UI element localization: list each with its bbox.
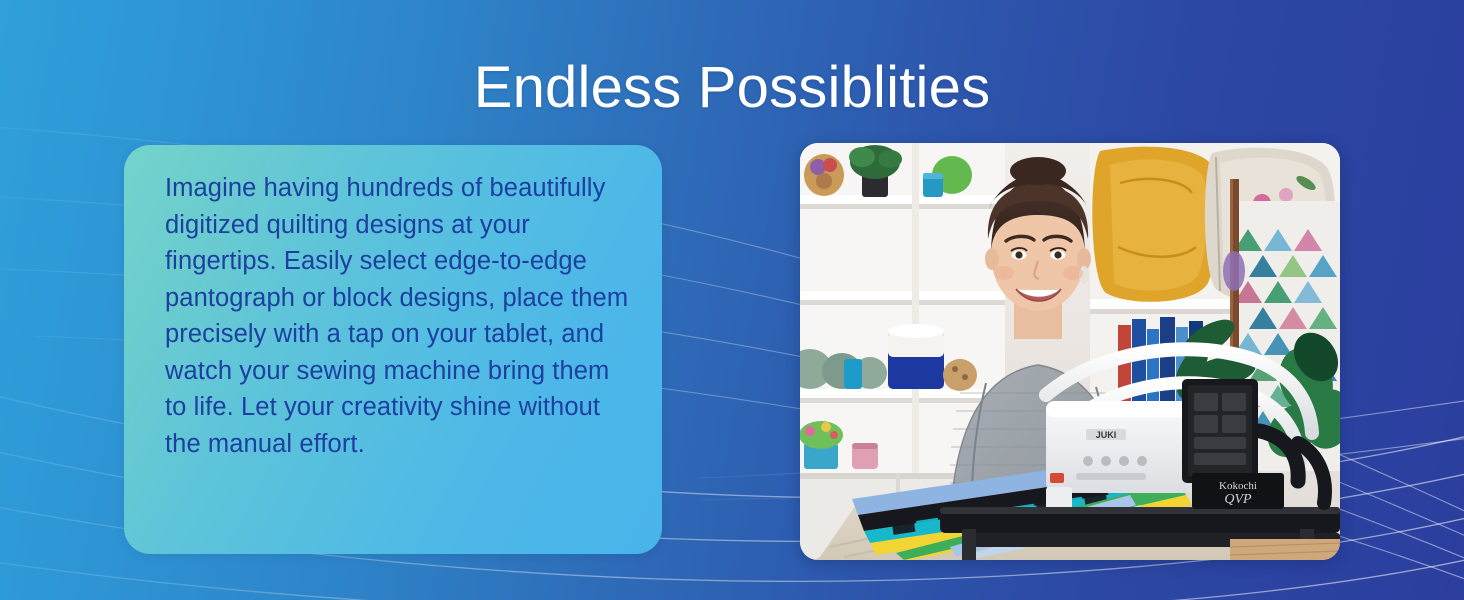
quilting-scene-illustration: JUKI [800,143,1340,560]
machine-brand-label: JUKI [1096,430,1117,440]
description-text: Imagine having hundreds of beautifully d… [165,170,635,462]
frame-model-label: QVP [1224,492,1252,507]
description-card: Imagine having hundreds of beautifully d… [124,145,662,554]
quilting-photo: JUKI [800,143,1340,560]
promo-banner: Endless Possiblities Imagine having hund… [0,0,1464,600]
frame-brand-label: Kokochi [1219,480,1257,492]
page-title: Endless Possiblities [0,58,1464,119]
